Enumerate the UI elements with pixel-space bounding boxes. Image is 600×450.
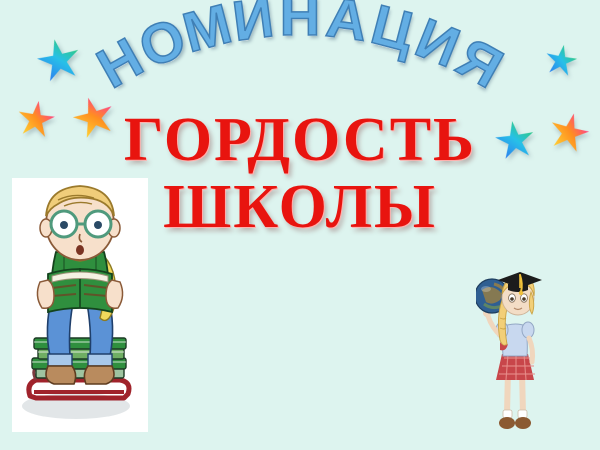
arch-letter-1: Н [88,29,151,98]
boy-reading-on-sled-icon [12,178,148,432]
star-right-mid-icon [491,117,538,164]
arch-letter-8: И [409,9,467,76]
page-title-wordart: НОМИНАЦИЯ [0,0,600,110]
star-right-mid-2-icon [544,108,595,159]
arch-letter-3: М [177,0,236,61]
girl-with-globe-illustration [476,258,552,436]
star-left-mid-2-icon [67,91,121,145]
arch-letter-4: И [230,0,277,49]
arch-letter-2: О [132,9,193,77]
slide-canvas: НОМИНАЦИЯ ГОРДОСТЬ ШКОЛЫ [0,0,600,450]
boy-reading-illustration-panel [12,178,148,432]
arch-letter-6: А [323,0,370,49]
arch-letter-7: Ц [366,0,420,60]
girl-with-globe-icon [476,258,552,436]
star-left-mid-icon [13,97,58,142]
star-left-upper-icon [32,34,87,89]
star-right-upper-icon [541,41,580,80]
arch-letter-9: Я [449,29,511,98]
arch-letter-5: Н [280,0,320,44]
